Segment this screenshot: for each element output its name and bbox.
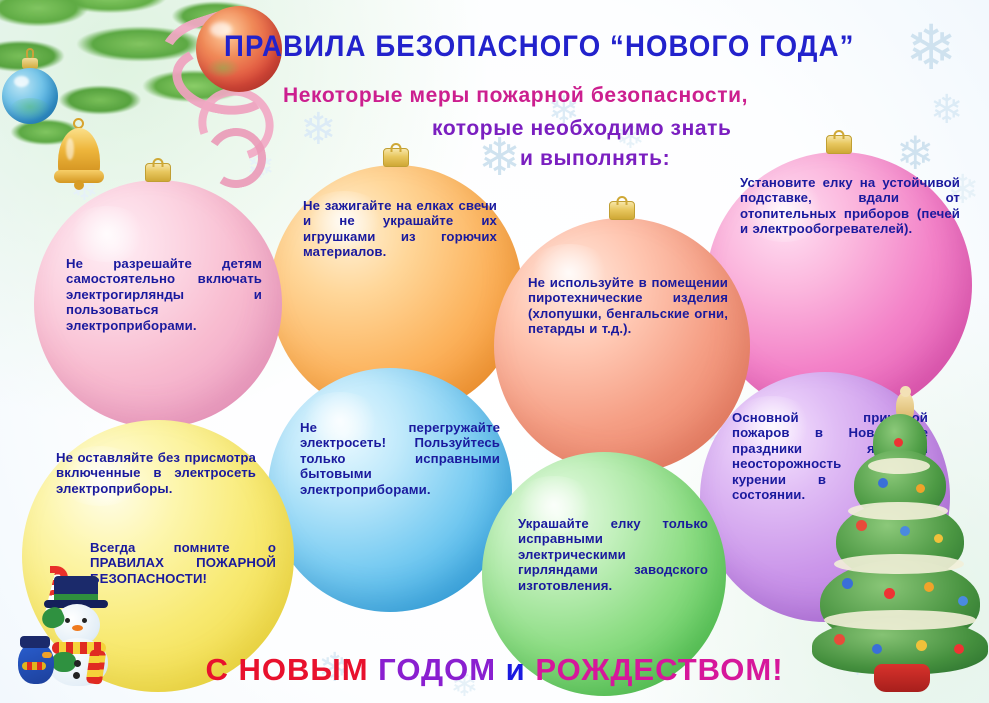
tree-topper-head <box>900 386 911 397</box>
tree-bauble <box>924 582 934 592</box>
christmas-tree <box>812 392 988 692</box>
bird-hat <box>20 636 50 648</box>
snowman-nose <box>72 625 83 631</box>
tree-garland <box>824 610 976 630</box>
tree-bauble <box>934 534 943 543</box>
tree-bauble <box>878 478 888 488</box>
ball-text-pyrotechnics: Не используйте в помещении пиротехническ… <box>528 275 728 337</box>
ball-text-candles: Не зажигайте на елках свечи и не украшай… <box>303 198 497 260</box>
tree-bauble <box>958 596 968 606</box>
ball-text-unattended: Не оставляйте без присмотра включенные в… <box>56 450 256 496</box>
subtitle-line-3: и выполнять: <box>520 147 670 171</box>
tree-bauble <box>856 520 867 531</box>
ball-text-tree-stand: Установите елку на устойчивой подставке,… <box>740 175 960 237</box>
coral-ball-pyrotechnics <box>494 218 750 474</box>
subtitle-line-1: Некоторые меры пожарной безопасности, <box>283 84 748 108</box>
greeting-part-1: С НОВЫМ <box>205 652 378 687</box>
tree-garland <box>848 502 948 520</box>
ornament-cap <box>826 135 852 154</box>
tree-bauble <box>834 634 845 645</box>
snowflake-icon: ❄ <box>300 108 337 152</box>
tree-bauble <box>894 438 903 447</box>
greeting-part-4: РОЖДЕСТВОМ! <box>535 652 783 687</box>
snowflake-icon: ❄ <box>930 90 964 130</box>
ball-text-overload: Не перегружайте электросеть! Пользуйтесь… <box>300 420 500 497</box>
ball-gloss <box>66 206 148 262</box>
snowflake-icon: ❄ <box>905 18 957 80</box>
ornament-cap <box>383 148 409 167</box>
greeting-part-3: и <box>506 652 536 687</box>
tree-bauble <box>842 578 853 589</box>
tree-bauble <box>900 526 910 536</box>
ball-text-children: Не разрешайте детям самостоятельно включ… <box>66 256 262 333</box>
tree-garland <box>834 554 964 574</box>
ball-text-decorate: Украшайте елку только исправными электри… <box>518 516 708 593</box>
greeting-banner: С НОВЫМ ГОДОМ и РОЖДЕСТВОМ! <box>0 652 989 688</box>
blue-ornament <box>2 58 58 114</box>
ornament-cap <box>145 163 171 182</box>
tree-bauble <box>916 484 925 493</box>
poster-canvas: ❄ ❄ ❄ ❄ ❄ ❄ ❄ ❄ ❄ ❄ ❄ ❄ ❄ ❄ ❄ ❄ ❄ ❄ ❄ ❄ … <box>0 0 989 703</box>
tree-bauble <box>916 640 927 651</box>
ornament-cap <box>609 201 635 220</box>
tree-bauble <box>884 588 895 599</box>
subtitle-line-2: которые необходимо знать <box>432 117 732 141</box>
greeting-part-2: ГОДОМ <box>378 652 506 687</box>
snowman-eye <box>82 618 87 623</box>
tree-garland <box>868 458 930 474</box>
snowman-eye <box>65 618 70 623</box>
page-title: ПРАВИЛА БЕЗОПАСНОГО “НОВОГО ГОДА” <box>224 30 855 64</box>
gold-bell-icon <box>52 118 106 190</box>
